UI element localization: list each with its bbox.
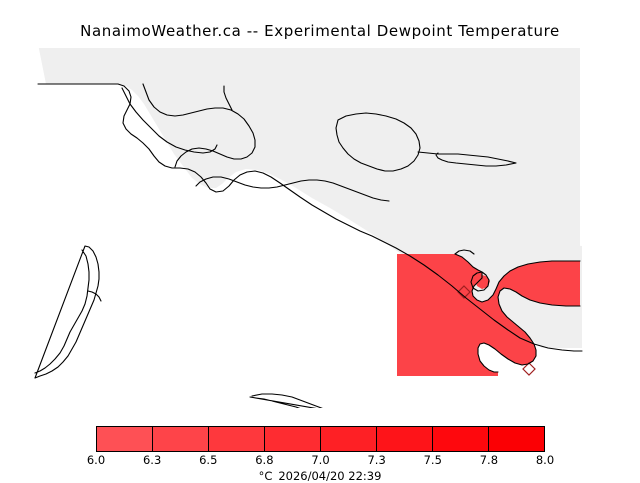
colorbar-segment-3 bbox=[265, 427, 321, 451]
colorbar-tick-6.0: 6.0 bbox=[87, 453, 105, 467]
colorbar-tick-6.5: 6.5 bbox=[199, 453, 217, 467]
colorbar-segment-0 bbox=[97, 427, 153, 451]
colorbar-tick-7.5: 7.5 bbox=[424, 453, 442, 467]
colorbar-segment-2 bbox=[209, 427, 265, 451]
colorbar-segment-6 bbox=[433, 427, 489, 451]
colorbar-tick-6.3: 6.3 bbox=[143, 453, 161, 467]
colorbar-segment-5 bbox=[377, 427, 433, 451]
map-svg bbox=[0, 48, 640, 408]
water-mask-northwest bbox=[0, 48, 38, 348]
colorbar-legend: 6.06.36.56.87.07.37.57.88.0 °C2026/04/20… bbox=[0, 420, 640, 480]
colorbar-tick-8.0: 8.0 bbox=[536, 453, 554, 467]
page-title: NanaimoWeather.ca -- Experimental Dewpoi… bbox=[0, 22, 640, 40]
colorbar-tick-7.3: 7.3 bbox=[367, 453, 385, 467]
map-canvas[interactable] bbox=[0, 48, 640, 408]
colorbar-segment-7 bbox=[489, 427, 544, 451]
coastline-island-chain-lower bbox=[250, 394, 400, 408]
colorbar-caption: °C2026/04/20 22:39 bbox=[0, 469, 640, 483]
colorbar-gradient[interactable] bbox=[96, 426, 545, 452]
colorbar-tick-7.0: 7.0 bbox=[311, 453, 329, 467]
colorbar-tick-7.8: 7.8 bbox=[480, 453, 498, 467]
colorbar-segment-4 bbox=[321, 427, 377, 451]
colorbar-tick-labels: 6.06.36.56.87.07.37.57.88.0 bbox=[0, 453, 640, 469]
colorbar-timestamp: 2026/04/20 22:39 bbox=[278, 469, 381, 483]
colorbar-unit-label: °C bbox=[259, 469, 273, 483]
colorbar-tick-6.8: 6.8 bbox=[255, 453, 273, 467]
colorbar-segment-1 bbox=[153, 427, 209, 451]
